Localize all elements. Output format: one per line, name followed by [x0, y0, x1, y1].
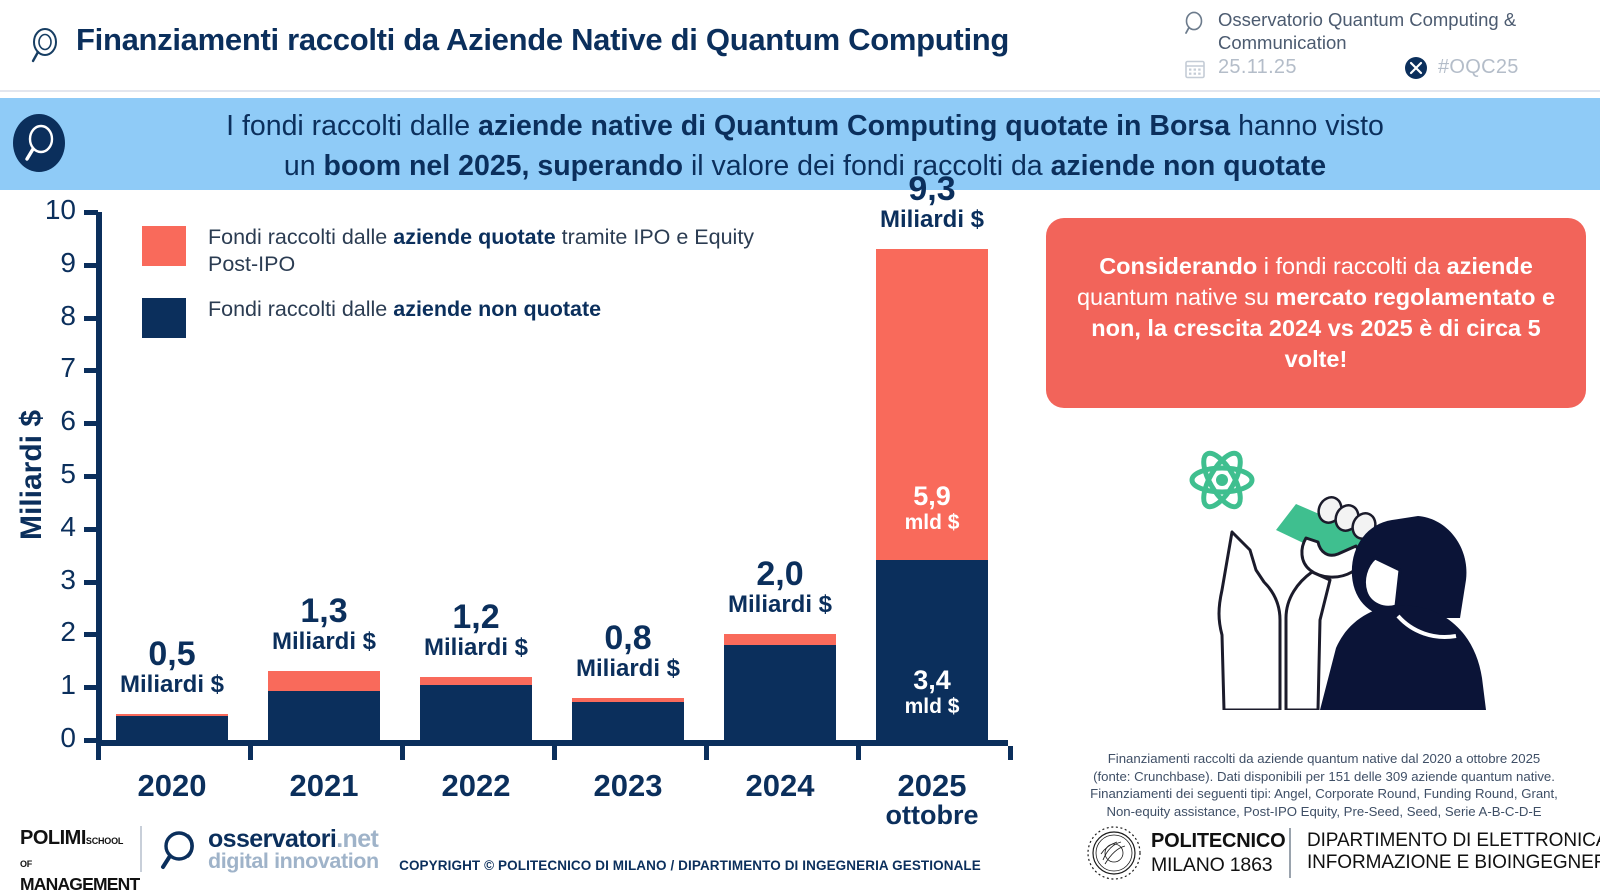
observatory-name: Osservatorio Quantum Computing & Communi… — [1218, 8, 1578, 54]
banner-text: I fondi raccolti dalle aziende native di… — [80, 106, 1530, 186]
legend-label-non-quotate: Fondi raccolti dalle aziende non quotate — [208, 296, 768, 323]
atom-icon — [1192, 448, 1252, 512]
footnote-source: Finanziamenti raccolti da aziende quantu… — [1050, 750, 1598, 820]
y-tick-label: 5 — [18, 458, 76, 490]
y-tick — [84, 527, 98, 532]
magnifier-icon — [158, 826, 204, 872]
bar-segment-non-quotate — [268, 691, 380, 740]
calendar-icon — [1184, 58, 1206, 80]
legend-swatch-quotate — [142, 226, 186, 266]
footer-divider — [140, 826, 142, 872]
footnote-line-3: Finanziamenti dei seguenti tipi: Angel, … — [1050, 785, 1598, 803]
header-bar: Finanziamenti raccolti da Aziende Native… — [0, 0, 1600, 92]
y-tick-label: 4 — [18, 511, 76, 543]
chart-legend: Fondi raccolti dalle aziende quotate tra… — [142, 224, 768, 358]
x-tick — [400, 746, 405, 760]
dipartimento-line2: INFORMAZIONE E BIOINGEGNERIA — [1307, 852, 1600, 874]
x-tick — [96, 746, 101, 760]
bar-2021 — [268, 671, 380, 740]
polimi-logo-line1: POLIMI — [20, 827, 86, 849]
banner-l2a: un — [284, 150, 324, 182]
insight-callout: Considerando i fondi raccolti da aziende… — [1046, 218, 1586, 408]
x-twitter-icon[interactable] — [1404, 56, 1428, 80]
x-tick — [856, 746, 861, 760]
magnifier-badge-icon — [8, 112, 70, 174]
banner-l2d: aziende non quotate — [1051, 150, 1327, 182]
bar-total-label-2024: 2,0Miliardi $ — [675, 556, 885, 618]
x-axis-label-2021: 2021 — [244, 768, 404, 804]
legend-0-a: Fondi raccolti dalle — [208, 225, 393, 249]
polimi-school-of-management-logo: POLIMISCHOOL OF MANAGEMENT — [20, 828, 130, 894]
legend-item: Fondi raccolti dalle aziende non quotate — [142, 296, 768, 340]
y-tick-label: 8 — [18, 300, 76, 332]
y-tick — [84, 210, 98, 215]
x-tick — [248, 746, 253, 760]
copyright-text: COPYRIGHT © POLITECNICO DI MILANO / DIPA… — [330, 858, 1050, 873]
y-tick-label: 3 — [18, 564, 76, 596]
x-axis-label-2023: 2023 — [548, 768, 708, 804]
y-tick-label: 0 — [18, 722, 76, 754]
x-axis-label-2020: 2020 — [92, 768, 252, 804]
x-axis-label-2022: 2022 — [396, 768, 556, 804]
politecnico-line2: MILANO 1863 — [1151, 854, 1272, 876]
subtitle-banner: I fondi raccolti dalle aziende native di… — [0, 98, 1600, 190]
bar-chart: Miliardi $ 012345678910 0,5Miliardi $1,3… — [0, 190, 1030, 850]
bar-2022 — [420, 677, 532, 740]
hand-pointing-icon — [1219, 532, 1280, 710]
y-tick-label: 7 — [18, 352, 76, 384]
footer-right-logos: POLITECNICO MILANO 1863 DIPARTIMENTO DI … — [1085, 818, 1600, 888]
hashtag-label: #OQC25 — [1438, 56, 1519, 79]
callout-b: i fondi raccolti da — [1257, 253, 1446, 279]
callout-d: quantum native su — [1077, 284, 1276, 310]
x-tick — [552, 746, 557, 760]
bar-inner-label-quotate: 5,9mld $ — [876, 482, 988, 534]
y-tick — [84, 738, 98, 743]
bar-segment-non-quotate — [420, 685, 532, 740]
y-tick — [84, 368, 98, 373]
bar-2020 — [116, 714, 228, 740]
bar-segment-non-quotate — [116, 716, 228, 740]
legend-item: Fondi raccolti dalle aziende quotate tra… — [142, 224, 768, 278]
bar-segment-non-quotate — [724, 645, 836, 740]
x-tick — [1008, 746, 1013, 760]
banner-l1c: hanno visto — [1230, 110, 1384, 142]
x-axis-label-2024: 2024 — [700, 768, 860, 804]
person-with-telescope-and-atom-illustration — [1160, 420, 1490, 710]
infographic-page: Finanziamenti raccolti da Aziende Native… — [0, 0, 1600, 894]
legend-1-b: aziende non quotate — [393, 297, 601, 321]
page-title: Finanziamenti raccolti da Aziende Native… — [76, 22, 1009, 58]
bar-segment-quotate — [724, 634, 836, 645]
y-tick — [84, 580, 98, 585]
legend-label-quotate: Fondi raccolti dalle aziende quotate tra… — [208, 224, 768, 278]
y-tick — [84, 474, 98, 479]
callout-a: Considerando — [1099, 253, 1257, 279]
osservatori-magnifier-icon — [26, 26, 66, 66]
x-axis-label-2025: 2025ottobre — [852, 768, 1012, 831]
footnote-line-2: (fonte: Crunchbase). Dati disponibili pe… — [1050, 768, 1598, 786]
bar-segment-non-quotate — [572, 702, 684, 740]
footer-left-logos: POLIMISCHOOL OF MANAGEMENT osservatori.n… — [12, 822, 392, 884]
magnifier-icon — [1182, 10, 1208, 36]
bar-2024 — [724, 634, 836, 740]
x-tick — [704, 746, 709, 760]
bar-segment-quotate — [268, 671, 380, 691]
bar-2025: 5,9mld $3,4mld $ — [876, 249, 988, 740]
bar-inner-label-non-quotate: 3,4mld $ — [876, 666, 988, 718]
politecnico-seal-icon — [1085, 824, 1143, 882]
legend-1-a: Fondi raccolti dalle — [208, 297, 393, 321]
banner-l1a: I fondi raccolti dalle — [226, 110, 478, 142]
y-tick — [84, 263, 98, 268]
banner-l1b: aziende native di Quantum Computing quot… — [478, 110, 1230, 142]
polimi-logo-line2: MANAGEMENT — [20, 874, 130, 894]
footnote-line-1: Finanziamenti raccolti da aziende quantu… — [1050, 750, 1598, 768]
legend-0-b: aziende quotate — [393, 225, 555, 249]
bar-total-label-2025: 9,3Miliardi $ — [827, 171, 1037, 233]
y-tick-label: 10 — [18, 194, 76, 226]
y-tick — [84, 421, 98, 426]
event-date: 25.11.25 — [1218, 56, 1297, 79]
bar-total-label-2023: 0,8Miliardi $ — [523, 620, 733, 682]
callout-c: aziende — [1447, 253, 1533, 279]
bar-2023 — [572, 698, 684, 740]
dipartimento-line1: DIPARTIMENTO DI ELETTRONICA — [1307, 830, 1600, 852]
legend-swatch-non-quotate — [142, 298, 186, 338]
y-tick-label: 9 — [18, 247, 76, 279]
y-tick-label: 6 — [18, 405, 76, 437]
banner-l2b: boom nel 2025, superando — [324, 150, 684, 182]
politecnico-line1: POLITECNICO — [1151, 830, 1285, 852]
footer-vertical-divider — [1289, 828, 1291, 878]
bar-segment-quotate — [420, 677, 532, 685]
callout-text: Considerando i fondi raccolti da aziende… — [1046, 251, 1586, 375]
y-tick — [84, 316, 98, 321]
